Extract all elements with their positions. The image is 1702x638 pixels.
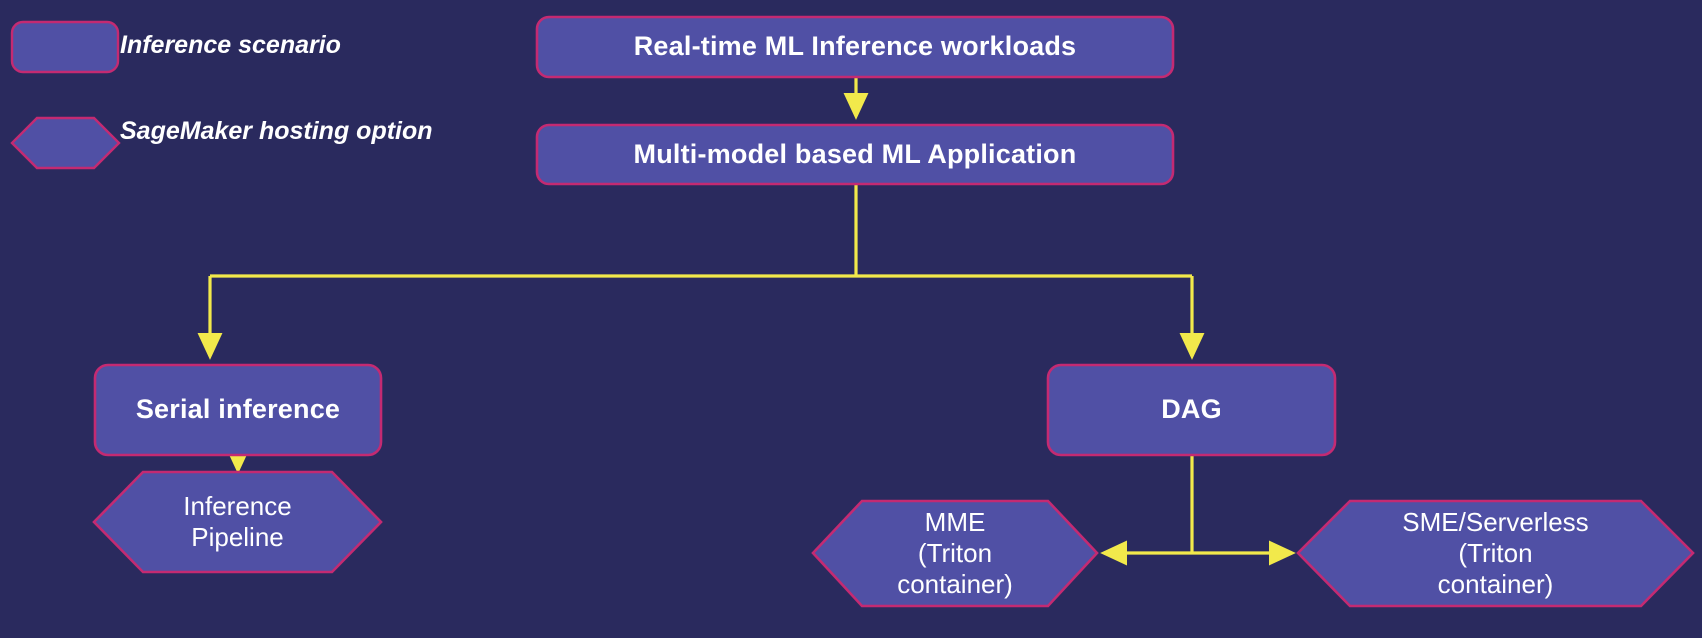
- legend-label-inference-scenario: Inference scenario: [120, 31, 341, 60]
- node-shape-mme[interactable]: [813, 501, 1097, 606]
- legend-swatch-inference-scenario: [12, 22, 118, 72]
- node-shape-inference-pipeline[interactable]: [94, 472, 381, 572]
- diagram-shapes-layer: [0, 0, 1702, 638]
- legend-swatch-sagemaker-hosting-option: [12, 118, 119, 168]
- legend-label-sagemaker-hosting-option: SageMaker hosting option: [120, 117, 433, 146]
- node-shape-dag[interactable]: [1048, 365, 1335, 455]
- diagram-canvas: Inference scenario SageMaker hosting opt…: [0, 0, 1702, 638]
- node-shape-sme[interactable]: [1298, 501, 1693, 606]
- node-shape-multimodel[interactable]: [537, 125, 1173, 184]
- node-shape-serial-inference[interactable]: [95, 365, 381, 455]
- node-shape-workloads[interactable]: [537, 17, 1173, 77]
